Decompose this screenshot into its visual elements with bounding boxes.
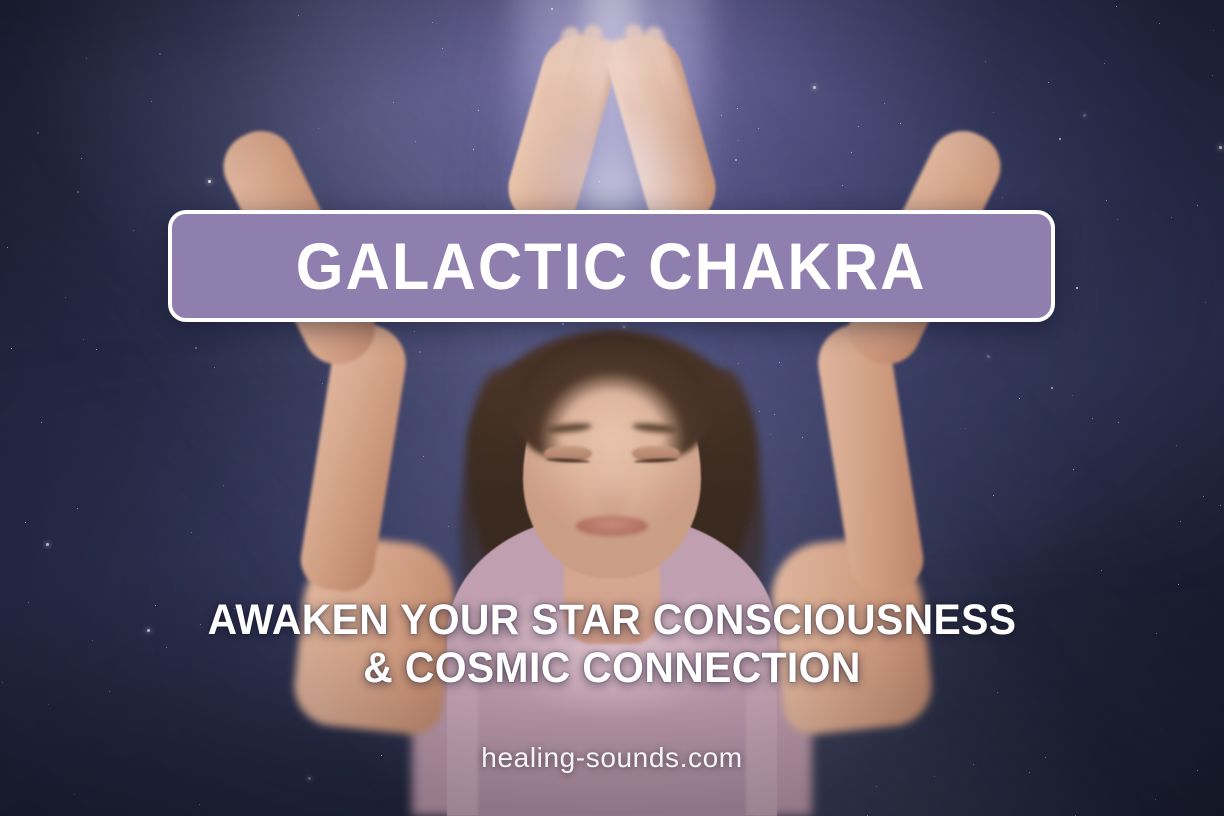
title-banner: GALACTIC CHAKRA: [168, 210, 1055, 322]
subtitle-line-1: AWAKEN YOUR STAR CONSCIOUSNESS: [31, 596, 1194, 644]
nose: [595, 466, 629, 516]
mouth: [576, 516, 648, 536]
page-title: GALACTIC CHAKRA: [296, 233, 927, 299]
subtitle-block: AWAKEN YOUR STAR CONSCIOUSNESS & COSMIC …: [0, 596, 1224, 692]
cheek-right: [646, 486, 698, 520]
thumbnail-canvas: GALACTIC CHAKRA AWAKEN YOUR STAR CONSCIO…: [0, 0, 1224, 816]
cheek-left: [526, 486, 578, 520]
site-url: healing-sounds.com: [0, 742, 1224, 774]
subtitle-line-2: & COSMIC CONNECTION: [31, 644, 1194, 692]
